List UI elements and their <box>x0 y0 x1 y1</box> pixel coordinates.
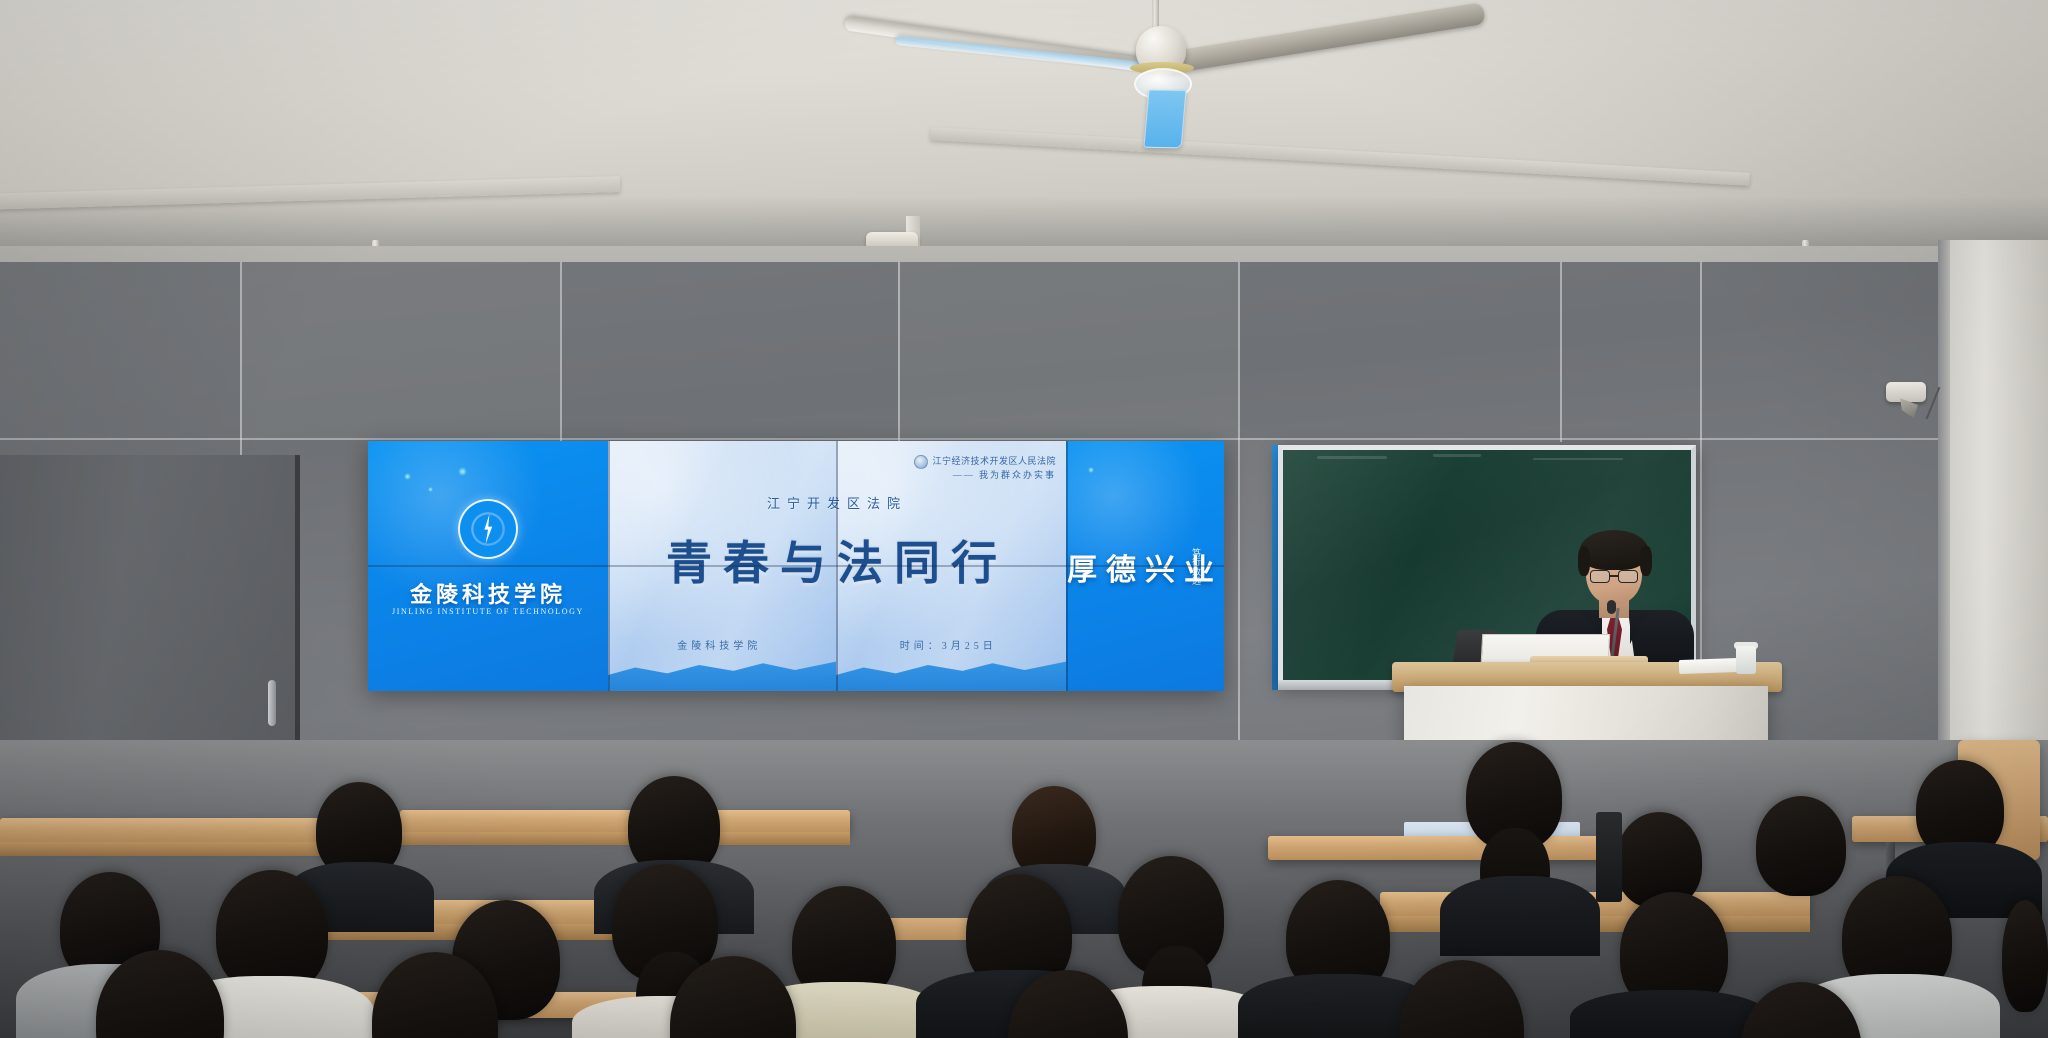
audience-shoulders <box>1570 990 1770 1038</box>
wall-speaker <box>1886 382 1926 402</box>
university-name-cn: 金陵科技学院 <box>368 577 608 609</box>
court-name: 江宁经济技术开发区人民法院 <box>932 456 1056 466</box>
university-emblem-icon <box>458 499 518 559</box>
court-badge: 江宁经济技术开发区人民法院 —— 我为群众办实事 <box>914 455 1056 482</box>
court-emblem-icon <box>914 455 928 469</box>
court-slogan: —— 我为群众办实事 <box>914 469 1056 482</box>
desk-row-far-left <box>0 818 330 844</box>
audience-head <box>2002 900 2048 1012</box>
lecture-hall-photo: 金陵科技学院 JINLING INSTITUTE OF TECHNOLOGY 江… <box>0 0 2048 1038</box>
school-motto-tail: 笃行致远 <box>1192 549 1204 587</box>
podium-papers <box>1679 658 1739 674</box>
desk-row-far-right <box>1268 836 1628 860</box>
right-pillar <box>1950 240 2048 800</box>
led-video-wall: 金陵科技学院 JINLING INSTITUTE OF TECHNOLOGY 江… <box>368 441 1224 691</box>
presenter-glasses <box>1590 570 1610 583</box>
audience-head <box>1756 796 1846 896</box>
podium-microphone <box>1607 600 1616 614</box>
water-bottle <box>1596 812 1622 902</box>
audience-shoulders <box>1440 876 1600 956</box>
desk-row-far-mid <box>400 810 850 834</box>
university-name-en: JINLING INSTITUTE OF TECHNOLOGY <box>368 607 608 616</box>
podium-cup <box>1736 646 1756 674</box>
